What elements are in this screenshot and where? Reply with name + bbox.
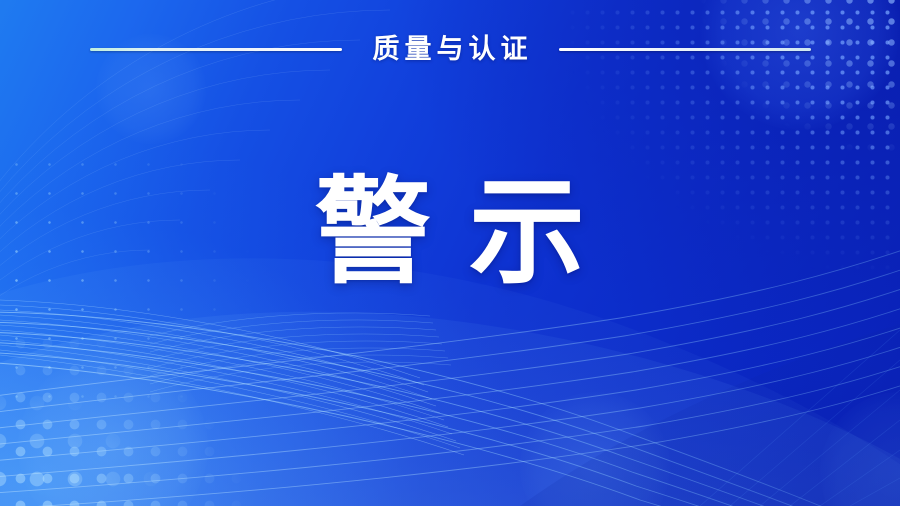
main-title-area: 警示 <box>0 163 900 303</box>
slide-canvas: 质量与认证 警示 <box>0 0 900 506</box>
bokeh-circle-icon <box>18 352 208 506</box>
main-title: 警示 <box>277 175 623 291</box>
header-rule-left <box>90 48 342 51</box>
header-title: 质量与认证 <box>368 36 533 63</box>
halftone-dots-bottom-left-large <box>0 346 230 506</box>
header-banner: 质量与认证 <box>0 26 900 72</box>
header-rule-right <box>559 48 811 51</box>
bokeh-circle-icon <box>520 392 670 506</box>
halftone-dots-bottom-left <box>0 276 320 506</box>
bokeh-circle-icon <box>820 392 900 506</box>
